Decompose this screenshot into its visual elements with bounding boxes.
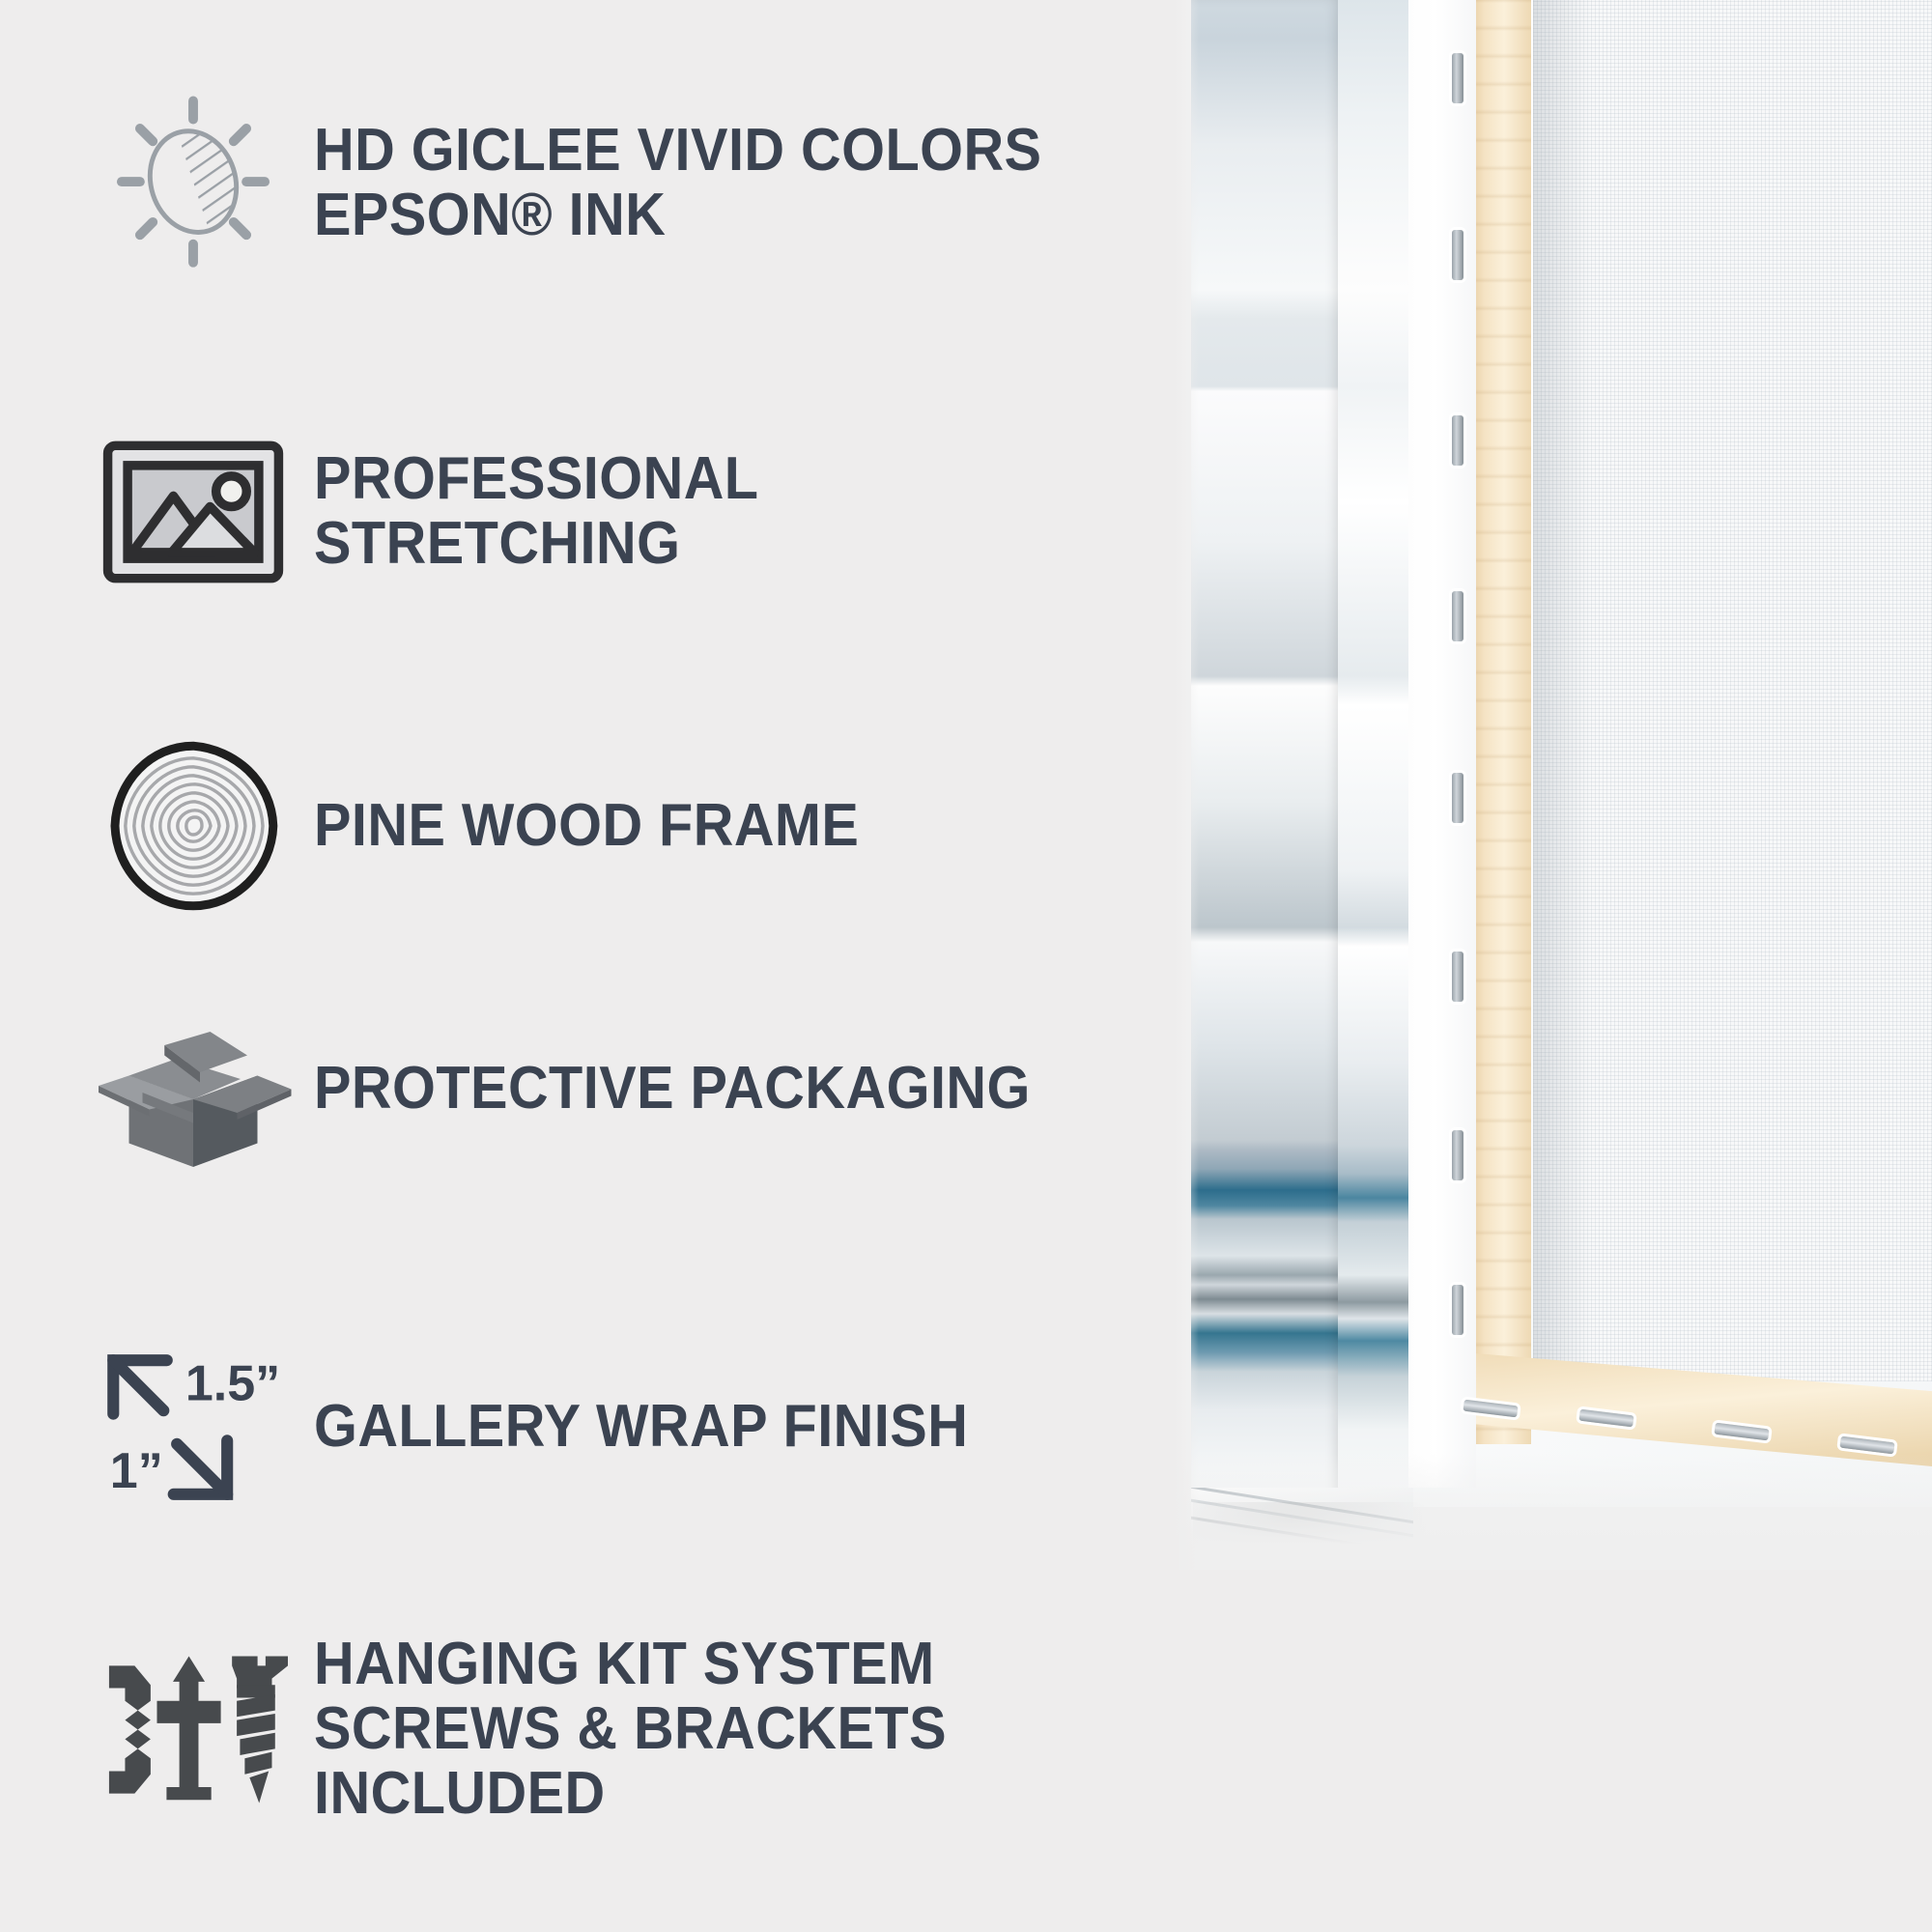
sun-icon <box>72 92 314 275</box>
feature-label: HD GICLEE VIVID COLORS EPSON® INK <box>314 119 1041 248</box>
feature-item-gallery-wrap: 1.5” 1” GALLERY WRAP FINISH <box>72 1338 1017 1517</box>
feature-item-hanging-kit: HANGING KIT SYSTEM SCREWS & BRACKETS INC… <box>72 1633 1179 1827</box>
depth-arrows-icon: 1.5” 1” <box>72 1338 314 1517</box>
depth-top-label: 1.5” <box>185 1356 279 1412</box>
weave-inner-shadow <box>1533 0 1591 1381</box>
feature-label: PINE WOOD FRAME <box>314 794 859 859</box>
staple <box>1452 53 1463 103</box>
photo-bottom-fade <box>1174 1454 1932 1570</box>
pine-stretcher-bar-vertical <box>1471 0 1531 1444</box>
framed-picture-icon <box>72 440 314 584</box>
feature-label: GALLERY WRAP FINISH <box>314 1395 968 1460</box>
staple <box>1452 773 1463 823</box>
feature-label: HANGING KIT SYSTEM SCREWS & BRACKETS INC… <box>314 1633 1118 1827</box>
canvas-corner-photo <box>1174 0 1932 1570</box>
open-box-icon <box>72 1005 314 1174</box>
depth-bottom-label: 1” <box>109 1443 162 1499</box>
canvas-printed-face <box>1191 0 1338 1550</box>
canvas-weave-texture <box>1533 0 1932 1381</box>
feature-item-protective-packaging: PROTECTIVE PACKAGING <box>72 1005 1085 1174</box>
feature-label: PROFESSIONAL STRETCHING <box>314 447 1118 577</box>
feature-label: PROTECTIVE PACKAGING <box>314 1057 1031 1122</box>
staple <box>1452 952 1463 1002</box>
hanging-hardware-icon <box>72 1645 314 1814</box>
staple <box>1452 591 1463 641</box>
canvas-folded-edge <box>1408 0 1476 1488</box>
feature-item-professional-stretching: PROFESSIONAL STRETCHING <box>72 440 1179 584</box>
canvas-wrapped-side <box>1338 0 1413 1550</box>
staple <box>1452 1130 1463 1180</box>
tree-rings-icon <box>72 739 314 913</box>
feature-list: HD GICLEE VIVID COLORS EPSON® INK PROFES… <box>0 0 1179 1932</box>
staple <box>1452 415 1463 466</box>
staple <box>1452 230 1463 280</box>
staple <box>1452 1285 1463 1335</box>
feature-item-hd-giclee: HD GICLEE VIVID COLORS EPSON® INK <box>72 92 1096 275</box>
infographic-root: HD GICLEE VIVID COLORS EPSON® INK PROFES… <box>0 0 1932 1932</box>
feature-item-pine-wood-frame: PINE WOOD FRAME <box>72 739 900 913</box>
